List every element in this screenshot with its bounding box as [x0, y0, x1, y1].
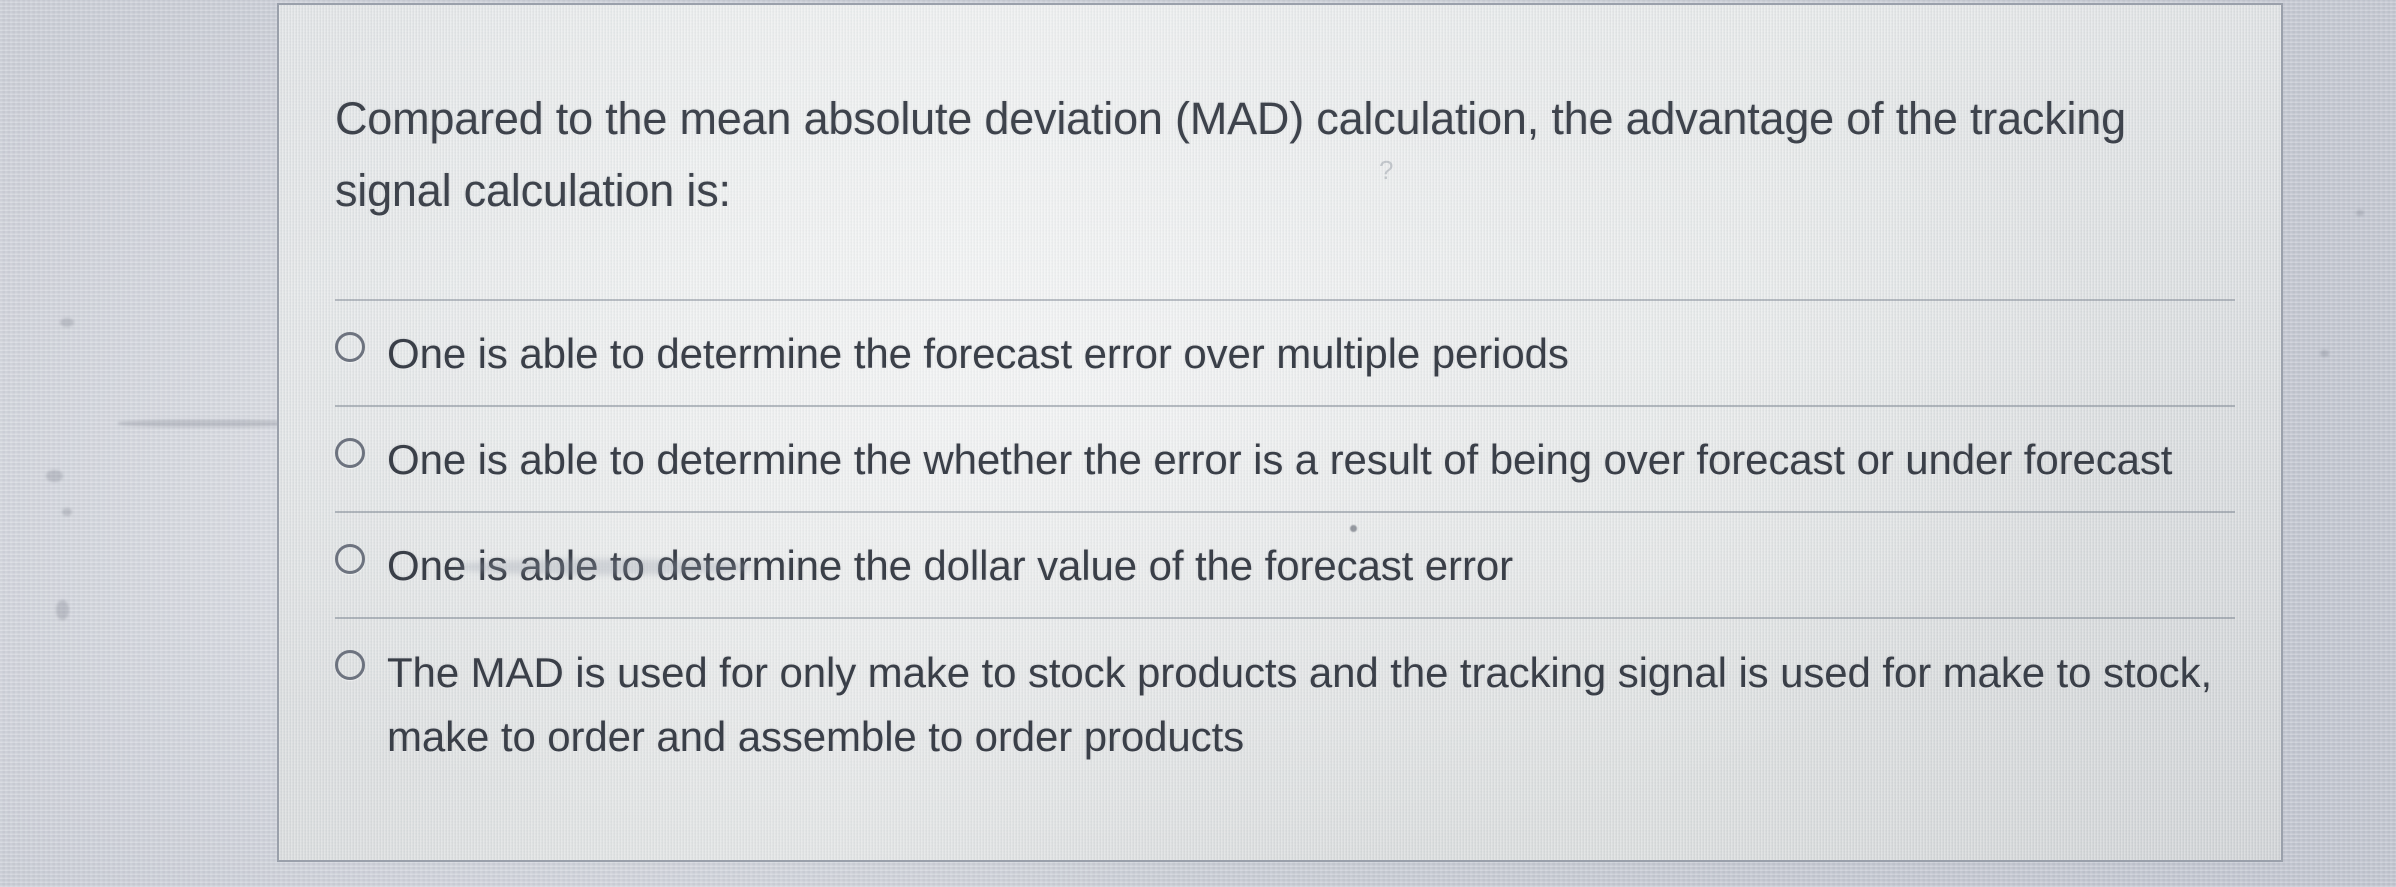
radio-button-icon-b[interactable] — [335, 438, 365, 468]
answer-option-b[interactable]: One is able to determine the whether the… — [335, 405, 2235, 511]
answer-option-a[interactable]: One is able to determine the forecast er… — [335, 299, 2235, 405]
scratch-mark — [118, 420, 298, 427]
question-stem: Compared to the mean absolute deviation … — [335, 83, 2145, 227]
scuff-mark — [455, 559, 755, 575]
ghost-question-mark-artifact: ? — [1379, 155, 1393, 186]
radio-button-icon-c[interactable] — [335, 544, 365, 574]
dust-speck — [62, 508, 72, 516]
answer-option-label-b: One is able to determine the whether the… — [387, 429, 2235, 491]
radio-button-icon-d[interactable] — [335, 650, 365, 680]
question-card: Compared to the mean absolute deviation … — [277, 3, 2283, 862]
dust-speck — [60, 318, 74, 327]
dust-speck — [2320, 350, 2329, 357]
dust-speck — [56, 600, 69, 620]
dust-speck — [1350, 525, 1357, 532]
answer-option-label-d: The MAD is used for only make to stock p… — [387, 641, 2235, 769]
answer-option-d[interactable]: The MAD is used for only make to stock p… — [335, 617, 2235, 789]
dust-speck — [2356, 210, 2364, 216]
answer-option-label-a: One is able to determine the forecast er… — [387, 323, 2235, 385]
screenshot-root: Compared to the mean absolute deviation … — [0, 0, 2396, 887]
dust-speck — [46, 470, 63, 482]
answer-option-c[interactable]: One is able to determine the dollar valu… — [335, 511, 2235, 617]
radio-button-icon-a[interactable] — [335, 332, 365, 362]
answer-options-list: One is able to determine the forecast er… — [335, 299, 2235, 789]
